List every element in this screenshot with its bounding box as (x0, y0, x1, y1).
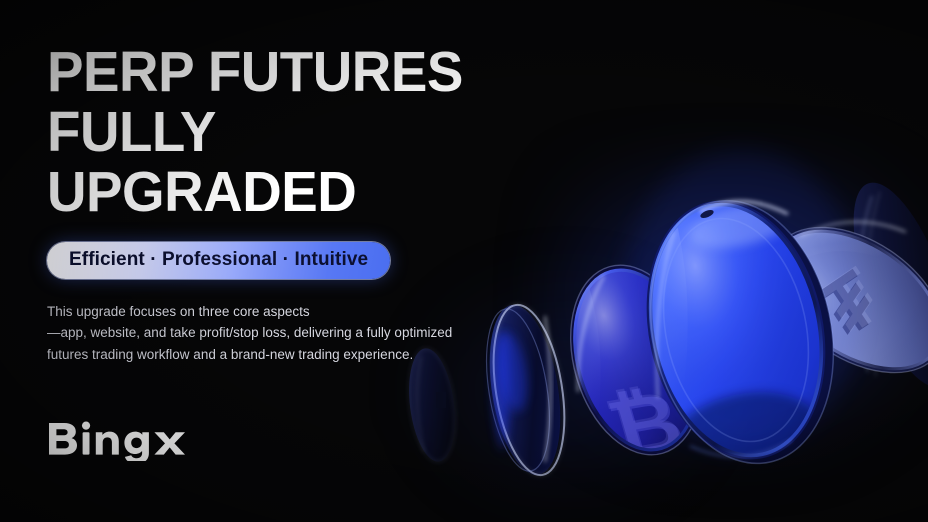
bingx-promo-banner: ₿ ₿ ₮ ₮ (0, 0, 928, 522)
coin-tether: ₮ ₮ (745, 197, 928, 402)
copy-block: PERP FUTURES FULLY UPGRADED Efficient · … (47, 42, 607, 365)
bingx-logo (47, 417, 199, 463)
description-text: This upgrade focuses on three core aspec… (47, 301, 607, 366)
badge-row: Efficient · Professional · Intuitive (47, 242, 607, 279)
bingx-logo-mark (47, 419, 199, 461)
coin-primary (624, 183, 857, 501)
tether-symbol: ₮ (803, 254, 893, 355)
feature-badge: Efficient · Professional · Intuitive (47, 242, 390, 279)
page-title: PERP FUTURES FULLY UPGRADED (47, 42, 585, 222)
bitcoin-symbol: ₿ (598, 375, 694, 479)
coin-edge-far-right (832, 171, 928, 400)
svg-text:₮: ₮ (806, 251, 896, 352)
svg-text:₿: ₿ (596, 373, 692, 477)
